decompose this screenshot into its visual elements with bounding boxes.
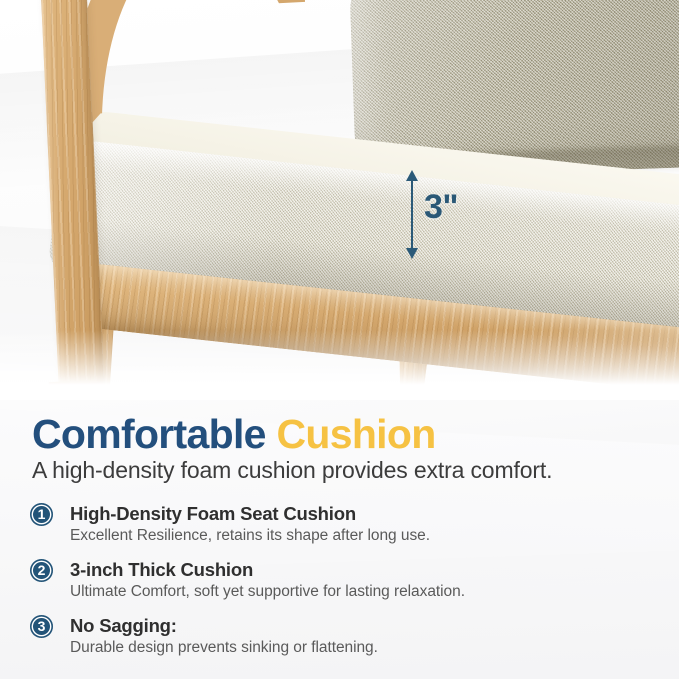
page-subtitle: A high-density foam cushion provides ext…	[32, 457, 552, 484]
feature-number-badge: 2	[30, 559, 53, 582]
feature-title: High-Density Foam Seat Cushion	[70, 502, 650, 525]
hero-product-photo: 3"	[0, 0, 679, 400]
page-title-primary: Comfortable	[32, 411, 266, 457]
feature-number-badge: 3	[30, 615, 53, 638]
feature-description: Excellent Resilience, retains its shape …	[70, 526, 650, 547]
cushion-thickness-label: 3"	[424, 190, 458, 224]
feature-content-block: Comfortable Cushion A high-density foam …	[0, 400, 679, 679]
feature-list: 1 High-Density Foam Seat Cushion Excelle…	[30, 502, 650, 670]
page-title: Comfortable Cushion	[32, 414, 436, 455]
photo-bottom-fade	[0, 330, 679, 400]
list-item: 1 High-Density Foam Seat Cushion Excelle…	[30, 502, 650, 547]
feature-description: Ultimate Comfort, soft yet supportive fo…	[70, 582, 650, 603]
list-item: 2 3-inch Thick Cushion Ultimate Comfort,…	[30, 558, 650, 603]
feature-title: 3-inch Thick Cushion	[70, 558, 650, 581]
feature-number-badge: 1	[30, 503, 53, 526]
measurement-arrow-line	[411, 174, 413, 252]
page-title-accent: Cushion	[276, 411, 435, 457]
product-feature-page: 3" Comfortable Cushion A high-density fo…	[0, 0, 679, 679]
measurement-arrow-down-icon	[406, 248, 418, 259]
list-item: 3 No Sagging: Durable design prevents si…	[30, 614, 650, 659]
feature-description: Durable design prevents sinking or flatt…	[70, 638, 650, 659]
chair-arm-curve	[56, 0, 346, 149]
feature-title: No Sagging:	[70, 614, 650, 637]
